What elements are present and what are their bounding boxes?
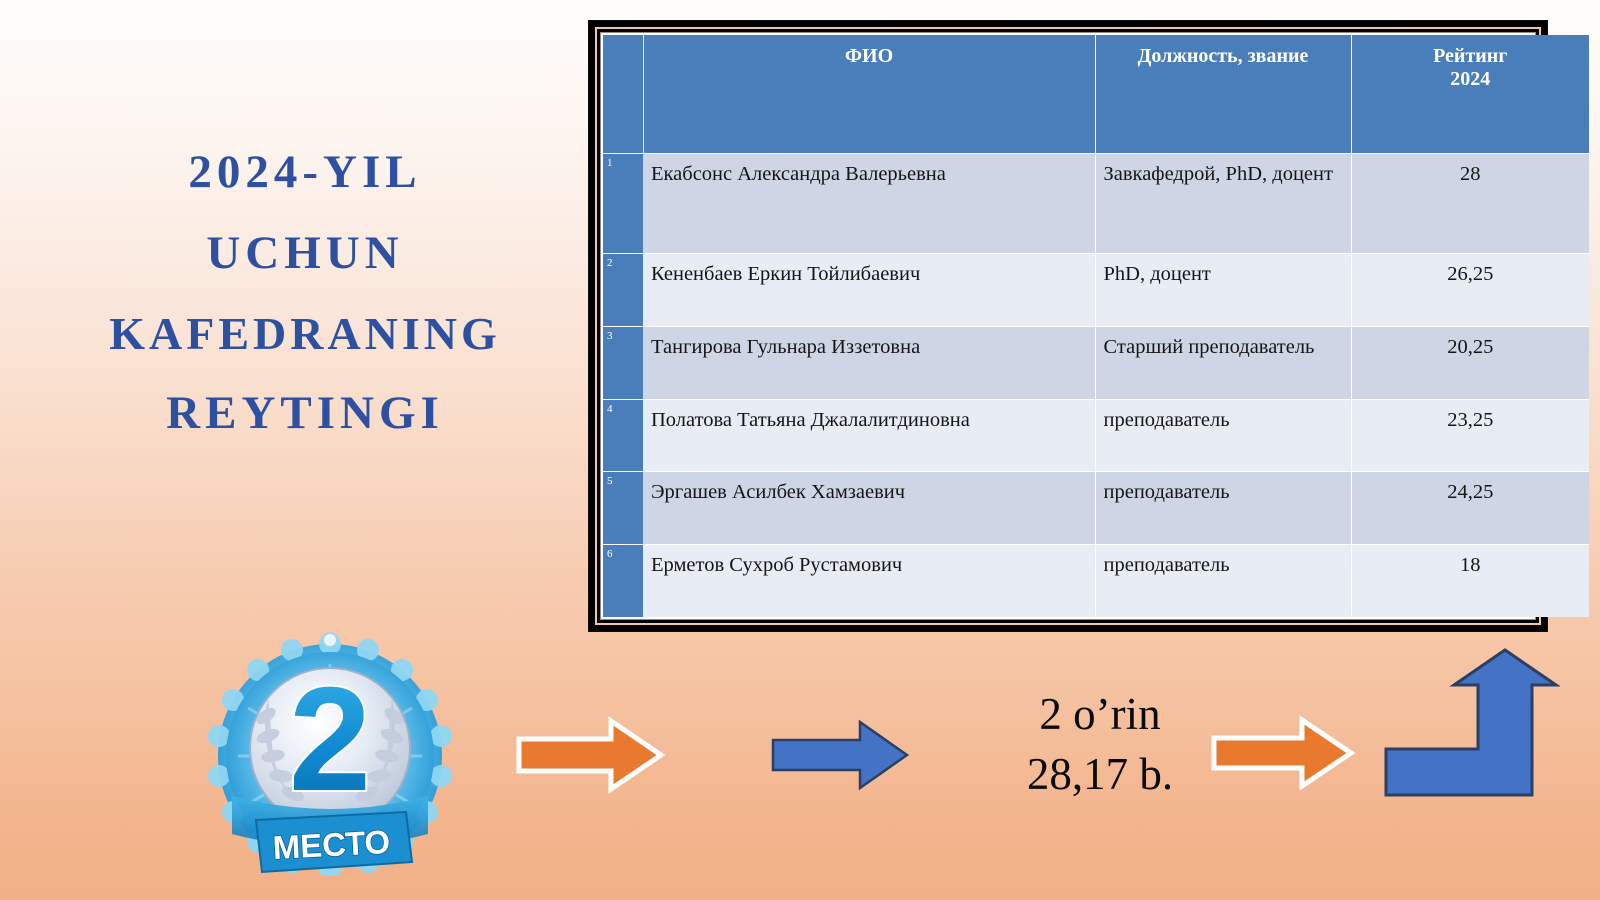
result-line-1: 2 o’rin: [965, 685, 1235, 745]
table-row[interactable]: 1 Екабсонс Александра Валерьевна Завкафе…: [603, 153, 1589, 254]
row-number: 3: [603, 326, 643, 399]
row-name: Эргашев Асилбек Хамзаевич: [643, 472, 1095, 545]
table-row[interactable]: 5 Эргашев Асилбек Хамзаевич преподавател…: [603, 472, 1589, 545]
arrow-right-blue-icon: [770, 718, 910, 792]
row-name: Екабсонс Александра Валерьевна: [643, 153, 1095, 254]
header-rating-line2: 2024: [1356, 68, 1586, 91]
table-row[interactable]: 3 Тангирова Гульнара Иззетовна Старший п…: [603, 326, 1589, 399]
result-line-2: 28,17 b.: [965, 745, 1235, 805]
table-row[interactable]: 6 Ерметов Сухроб Рустамович преподавател…: [603, 544, 1589, 617]
row-number: 5: [603, 472, 643, 545]
row-number: 2: [603, 254, 643, 327]
slide-title: 2024-YIL UCHUN KAFEDRANING REYTINGI: [20, 132, 590, 454]
header-name: ФИО: [643, 35, 1095, 153]
row-position: Завкафедрой, PhD, доцент: [1095, 153, 1351, 254]
presentation-slide: 2024-YIL UCHUN KAFEDRANING REYTINGI: [0, 0, 1600, 900]
rating-table-header: ФИО Должность, звание Рейтинг 2024: [603, 35, 1589, 153]
row-number: 6: [603, 544, 643, 617]
row-position: преподаватель: [1095, 472, 1351, 545]
result-flow: 2 o’rin 28,17 b.: [505, 655, 1575, 855]
medal-place-number: 2: [289, 657, 371, 822]
medal-icon: 2 МЕСТО: [208, 628, 452, 876]
rating-table: ФИО Должность, звание Рейтинг 2024 1 Ека…: [603, 35, 1589, 617]
row-position: преподаватель: [1095, 399, 1351, 472]
row-rating: 28: [1351, 153, 1589, 254]
header-rating-line1: Рейтинг: [1356, 45, 1586, 68]
header-position: Должность, звание: [1095, 35, 1351, 153]
row-name: Тангирова Гульнара Иззетовна: [643, 326, 1095, 399]
row-name: Кененбаев Еркин Тойлибаевич: [643, 254, 1095, 327]
second-place-medal: 2 МЕСТО: [208, 628, 452, 876]
rating-table-frame-inner: ФИО Должность, звание Рейтинг 2024 1 Ека…: [595, 27, 1541, 625]
row-position: Старший преподаватель: [1095, 326, 1351, 399]
row-rating: 23,25: [1351, 399, 1589, 472]
row-name: Ерметов Сухроб Рустамович: [643, 544, 1095, 617]
row-position: PhD, доцент: [1095, 254, 1351, 327]
title-line-2: UCHUN: [20, 213, 590, 294]
arrow-right-orange-2-icon: [1210, 713, 1355, 793]
table-row[interactable]: 4 Полатова Татьяна Джалалитдиновна препо…: [603, 399, 1589, 472]
row-rating: 20,25: [1351, 326, 1589, 399]
medal-ribbon-label: МЕСТО: [272, 823, 391, 866]
row-position: преподаватель: [1095, 544, 1351, 617]
row-number: 1: [603, 153, 643, 254]
row-rating: 18: [1351, 544, 1589, 617]
row-number: 4: [603, 399, 643, 472]
arrow-right-orange-icon: [515, 715, 665, 795]
row-rating: 24,25: [1351, 472, 1589, 545]
result-text: 2 o’rin 28,17 b.: [965, 685, 1235, 805]
title-line-1: 2024-YIL: [20, 132, 590, 213]
arrow-bent-up-blue-icon: [1380, 645, 1560, 805]
row-rating: 26,25: [1351, 254, 1589, 327]
table-row[interactable]: 2 Кененбаев Еркин Тойлибаевич PhD, доцен…: [603, 254, 1589, 327]
title-line-3: KAFEDRANING: [20, 294, 590, 373]
rating-table-frame-inner2: ФИО Должность, звание Рейтинг 2024 1 Ека…: [600, 32, 1536, 620]
header-number: [603, 35, 643, 153]
header-rating: Рейтинг 2024: [1351, 35, 1589, 153]
row-name: Полатова Татьяна Джалалитдиновна: [643, 399, 1095, 472]
title-line-4: REYTINGI: [20, 373, 590, 454]
header-row: ФИО Должность, звание Рейтинг 2024: [603, 35, 1589, 153]
rating-table-frame: ФИО Должность, звание Рейтинг 2024 1 Ека…: [589, 21, 1547, 631]
rating-table-body: 1 Екабсонс Александра Валерьевна Завкафе…: [603, 153, 1589, 617]
